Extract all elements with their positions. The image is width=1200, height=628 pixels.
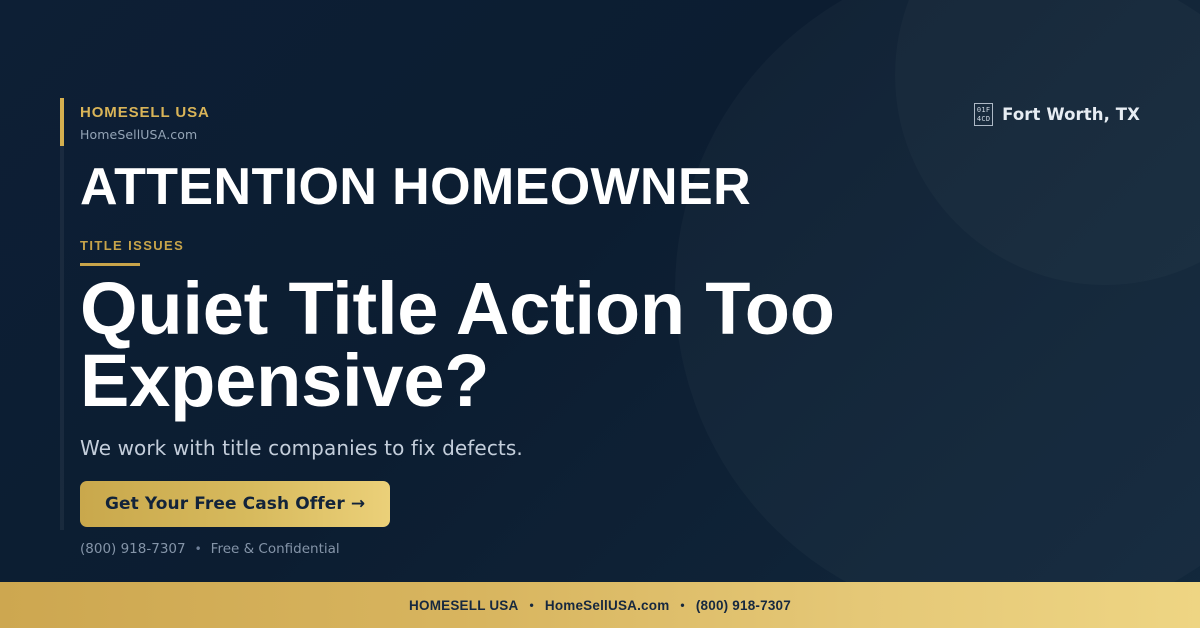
eyebrow-block: TITLE ISSUES bbox=[80, 238, 184, 266]
trust-separator-icon: • bbox=[195, 542, 202, 556]
footer-bar: HOMESELL USA • HomeSellUSA.com • (800) 9… bbox=[0, 582, 1200, 628]
brand-website: HomeSellUSA.com bbox=[80, 127, 210, 142]
left-accent-rail bbox=[60, 98, 64, 530]
subheading: We work with title companies to fix defe… bbox=[80, 436, 523, 460]
footer-brand: HOMESELL USA bbox=[409, 598, 518, 613]
footer-website[interactable]: HomeSellUSA.com bbox=[545, 598, 670, 613]
trust-phone[interactable]: (800) 918-7307 bbox=[80, 541, 186, 557]
marketing-banner: HOMESELL USA HomeSellUSA.com 01F 4CD For… bbox=[0, 0, 1200, 628]
get-free-cash-offer-button[interactable]: Get Your Free Cash Offer → bbox=[80, 481, 390, 527]
brand-block: HOMESELL USA HomeSellUSA.com bbox=[80, 104, 210, 142]
location-label: Fort Worth, TX bbox=[1002, 105, 1140, 124]
background-circle-small bbox=[895, 0, 1200, 285]
trust-line: (800) 918-7307 • Free & Confidential bbox=[80, 541, 340, 557]
attention-kicker: ATTENTION HOMEOWNER bbox=[80, 161, 751, 213]
footer-phone[interactable]: (800) 918-7307 bbox=[696, 598, 791, 613]
location-badge: 01F 4CD Fort Worth, TX bbox=[974, 103, 1140, 126]
eyebrow-underline bbox=[80, 263, 140, 266]
left-accent-rail-gold-segment bbox=[60, 98, 64, 146]
footer-separator-two-icon: • bbox=[680, 598, 684, 612]
tofu-codepoint-bottom: 4CD bbox=[977, 115, 991, 124]
location-pin-icon: 01F 4CD bbox=[974, 103, 993, 126]
footer-content: HOMESELL USA • HomeSellUSA.com • (800) 9… bbox=[409, 598, 791, 613]
footer-separator-one-icon: • bbox=[529, 598, 533, 612]
eyebrow-label: TITLE ISSUES bbox=[80, 238, 184, 254]
tofu-codepoint-top: 01F bbox=[977, 106, 991, 115]
page-title: Quiet Title Action Too Expensive? bbox=[80, 273, 940, 417]
brand-name: HOMESELL USA bbox=[80, 104, 210, 123]
trust-note: Free & Confidential bbox=[211, 541, 340, 557]
